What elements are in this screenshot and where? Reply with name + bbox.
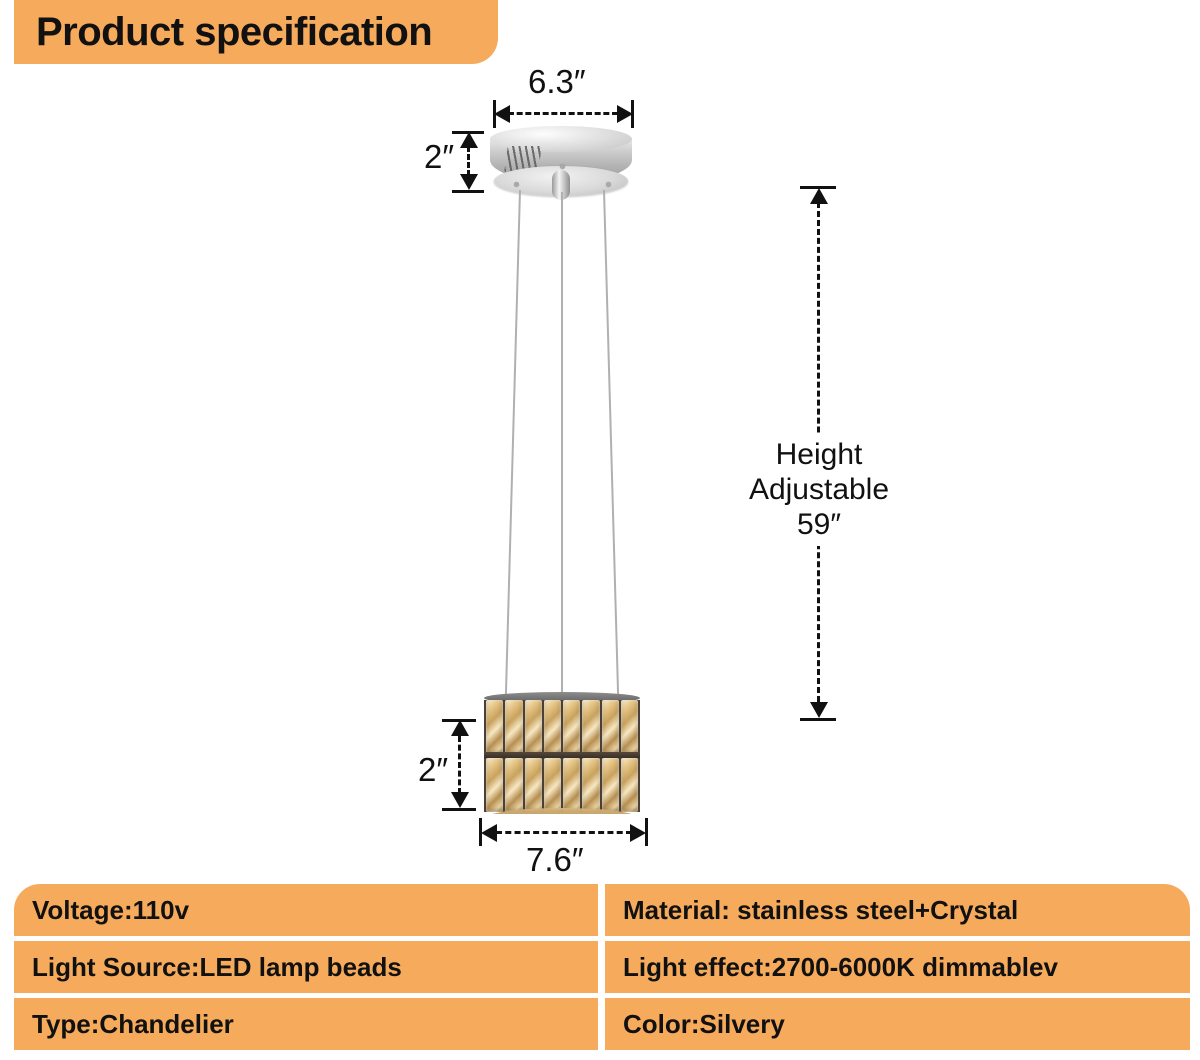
spec-cell-light-source: Light Source:LED lamp beads [14, 941, 598, 993]
height-adjustable-label: Height Adjustable 59″ [700, 434, 938, 546]
dim-arrow-up [810, 188, 828, 204]
crystal-block [582, 758, 599, 812]
crystal-block [525, 758, 542, 812]
dim-arrow-down [810, 702, 828, 718]
dim-line-canopy-height [467, 146, 470, 176]
dim-cap-bottom [442, 808, 476, 811]
spec-cell-type: Type:Chandelier [14, 998, 598, 1050]
canopy-screw [560, 164, 565, 169]
dim-arrow-up [460, 132, 478, 148]
drum-body [484, 698, 640, 814]
dim-arrow-right [630, 824, 646, 842]
suspension-cable [603, 190, 619, 702]
dim-cap-bottom [800, 718, 836, 721]
suspension-cable [505, 190, 521, 702]
crystal-block [563, 700, 580, 754]
dim-arrow-left [494, 105, 510, 123]
crystal-row-upper [484, 700, 640, 754]
table-row: Type:Chandelier Color:Silvery [14, 998, 1190, 1050]
spec-cell-color: Color:Silvery [605, 998, 1190, 1050]
height-adjustable-line1: Height [700, 438, 938, 473]
crystal-block [544, 758, 561, 812]
crystal-block [505, 700, 522, 754]
spec-cell-material: Material: stainless steel+Crystal [605, 884, 1190, 936]
dimension-label-drum-height: 2″ [418, 752, 448, 788]
spec-cell-voltage: Voltage:110v [14, 884, 598, 936]
crystal-block [563, 758, 580, 812]
crystal-block [602, 700, 619, 754]
crystal-block [602, 758, 619, 812]
table-row: Light Source:LED lamp beads Light effect… [14, 941, 1190, 993]
dimension-label-canopy-width: 6.3″ [528, 64, 586, 100]
height-adjustable-line2: Adjustable [700, 473, 938, 508]
dim-line-drum-height [458, 736, 461, 794]
crystal-row-lower [484, 758, 640, 812]
crystal-block [486, 700, 503, 754]
spec-cell-light-effect: Light effect:2700-6000K dimmablev [605, 941, 1190, 993]
dim-arrow-down [451, 792, 469, 808]
crystal-block [525, 700, 542, 754]
ceiling-canopy [490, 126, 632, 194]
crystal-block [544, 700, 561, 754]
dim-line-canopy-width [508, 112, 618, 115]
dim-arrow-up [451, 720, 469, 736]
specification-table: Voltage:110v Material: stainless steel+C… [14, 884, 1190, 1050]
table-row: Voltage:110v Material: stainless steel+C… [14, 884, 1190, 936]
height-adjustable-line3: 59″ [700, 508, 938, 543]
dim-cap-bottom [452, 190, 484, 193]
crystal-block [621, 758, 638, 812]
crystal-block [505, 758, 522, 812]
canopy-screw [606, 182, 611, 187]
crystal-block [621, 700, 638, 754]
suspension-cable [561, 192, 563, 700]
product-illustration: 6.3″ 2″ [0, 0, 1200, 880]
dimension-label-canopy-height: 2″ [424, 139, 454, 175]
dim-arrow-left [481, 824, 497, 842]
crystal-drum-shade [484, 696, 640, 822]
crystal-block [582, 700, 599, 754]
dim-line-drum-width [496, 831, 632, 834]
dim-arrow-right [617, 105, 633, 123]
canopy-screw [514, 182, 519, 187]
crystal-block [486, 758, 503, 812]
dimension-label-drum-width: 7.6″ [526, 842, 584, 878]
dim-arrow-down [460, 174, 478, 190]
